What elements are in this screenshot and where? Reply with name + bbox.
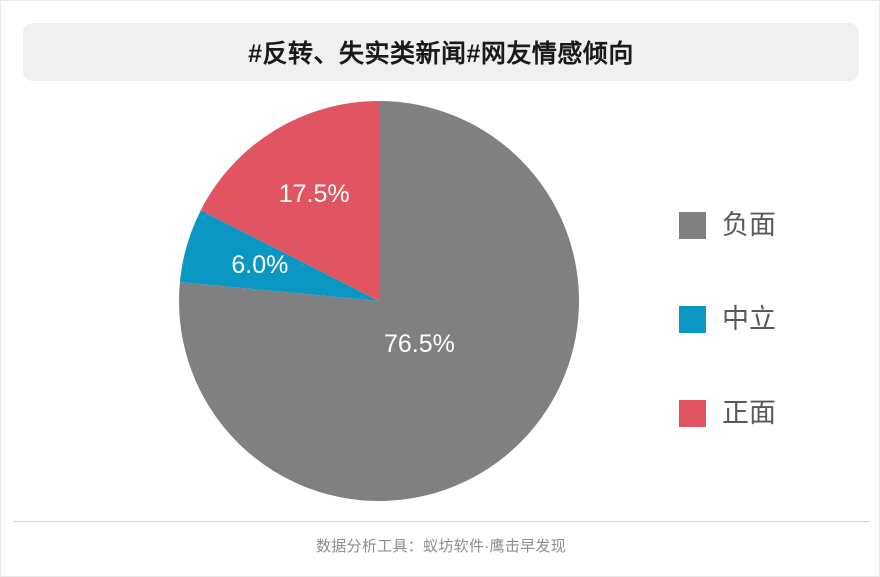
legend-item-positive[interactable]: 正面: [679, 395, 849, 431]
pie-label-positive: 17.5%: [279, 180, 350, 208]
legend-swatch-icon: [679, 400, 706, 427]
pie-chart: 76.5% 6.0% 17.5%: [171, 93, 587, 509]
title-banner: #反转、失实类新闻#网友情感倾向: [23, 23, 859, 81]
legend-item-negative[interactable]: 负面: [679, 207, 849, 243]
footer-text: 数据分析工具：蚁坊软件·鹰击早发现: [316, 538, 566, 555]
footer-divider: [13, 521, 869, 522]
legend-swatch-icon: [679, 212, 706, 239]
legend-item-neutral[interactable]: 中立: [679, 301, 849, 337]
chart-legend: 负面 中立 正面: [679, 207, 849, 431]
pie-label-neutral: 6.0%: [231, 251, 288, 279]
page-title: #反转、失实类新闻#网友情感倾向: [248, 34, 634, 70]
chart-area: 76.5% 6.0% 17.5% 负面 中立 正面: [1, 87, 880, 517]
legend-label-positive: 正面: [722, 400, 776, 427]
footer: 数据分析工具：蚁坊软件·鹰击早发现: [1, 535, 880, 556]
pie-label-negative: 76.5%: [384, 330, 455, 358]
chart-page: #反转、失实类新闻#网友情感倾向 76.5% 6.0% 17.5% 负面 中立: [0, 0, 880, 577]
legend-label-neutral: 中立: [722, 306, 776, 333]
legend-label-negative: 负面: [722, 212, 776, 239]
legend-swatch-icon: [679, 306, 706, 333]
